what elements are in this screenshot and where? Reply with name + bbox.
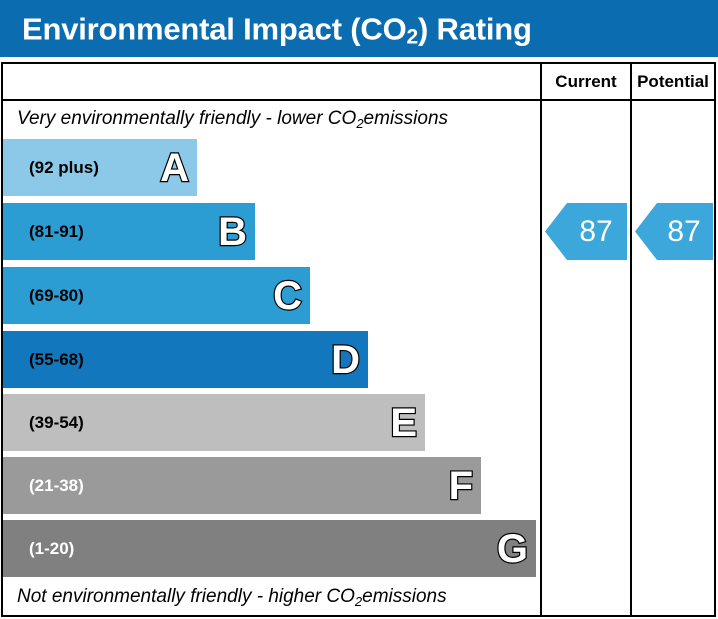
band-letter-a: A (160, 148, 189, 188)
column-header-current: Current (542, 64, 630, 99)
page-title: Environmental Impact (CO2) Rating (22, 13, 532, 44)
band-range-g: (1-20) (29, 540, 74, 557)
potential-rating-arrow: 87 (635, 203, 713, 260)
column-divider-current (540, 64, 542, 615)
band-letter-e: E (390, 403, 417, 443)
rating-band-e: (39-54) E (3, 394, 425, 451)
rating-bands: (92 plus) A (81-91) B (69-80) C (55-68) … (3, 139, 540, 579)
caption-bottom-pre: Not environmentally friendly - higher CO (17, 586, 355, 608)
caption-bottom-post: emissions (362, 586, 446, 608)
column-divider-potential (630, 64, 632, 615)
caption-top-pre: Very environmentally friendly - lower CO (17, 108, 356, 130)
band-range-b: (81-91) (29, 223, 84, 240)
rating-band-f: (21-38) F (3, 457, 481, 514)
band-letter-d: D (331, 340, 360, 380)
rating-band-a: (92 plus) A (3, 139, 197, 196)
band-range-e: (39-54) (29, 414, 84, 431)
band-range-a: (92 plus) (29, 159, 99, 176)
current-rating-value: 87 (579, 217, 612, 247)
caption-top-subscript: 2 (356, 116, 363, 131)
band-letter-c: C (273, 276, 302, 316)
caption-top-post: emissions (364, 108, 448, 130)
caption-bottom-subscript: 2 (355, 594, 362, 609)
band-range-c: (69-80) (29, 287, 84, 304)
band-letter-f: F (449, 466, 473, 506)
band-letter-b: B (218, 212, 247, 252)
rating-table: Current Potential Very environmentally f… (1, 62, 716, 617)
rating-band-d: (55-68) D (3, 331, 368, 388)
rating-band-b: (81-91) B (3, 203, 255, 260)
page-title-subscript: 2 (407, 25, 418, 48)
column-header-potential: Potential (632, 64, 714, 99)
caption-top: Very environmentally friendly - lower CO… (3, 101, 540, 137)
rating-band-g: (1-20) G (3, 520, 536, 577)
epc-environmental-impact-chart: Environmental Impact (CO2) Rating Curren… (0, 0, 718, 619)
page-title-post: ) Rating (418, 11, 532, 46)
page-title-pre: Environmental Impact (CO (22, 11, 407, 46)
potential-rating-value: 87 (667, 217, 700, 247)
band-letter-g: G (497, 529, 528, 569)
rating-band-c: (69-80) C (3, 267, 310, 324)
caption-bottom: Not environmentally friendly - higher CO… (3, 579, 540, 615)
band-range-d: (55-68) (29, 351, 84, 368)
chart-title-bar: Environmental Impact (CO2) Rating (0, 0, 718, 57)
band-range-f: (21-38) (29, 477, 84, 494)
current-rating-arrow: 87 (545, 203, 627, 260)
